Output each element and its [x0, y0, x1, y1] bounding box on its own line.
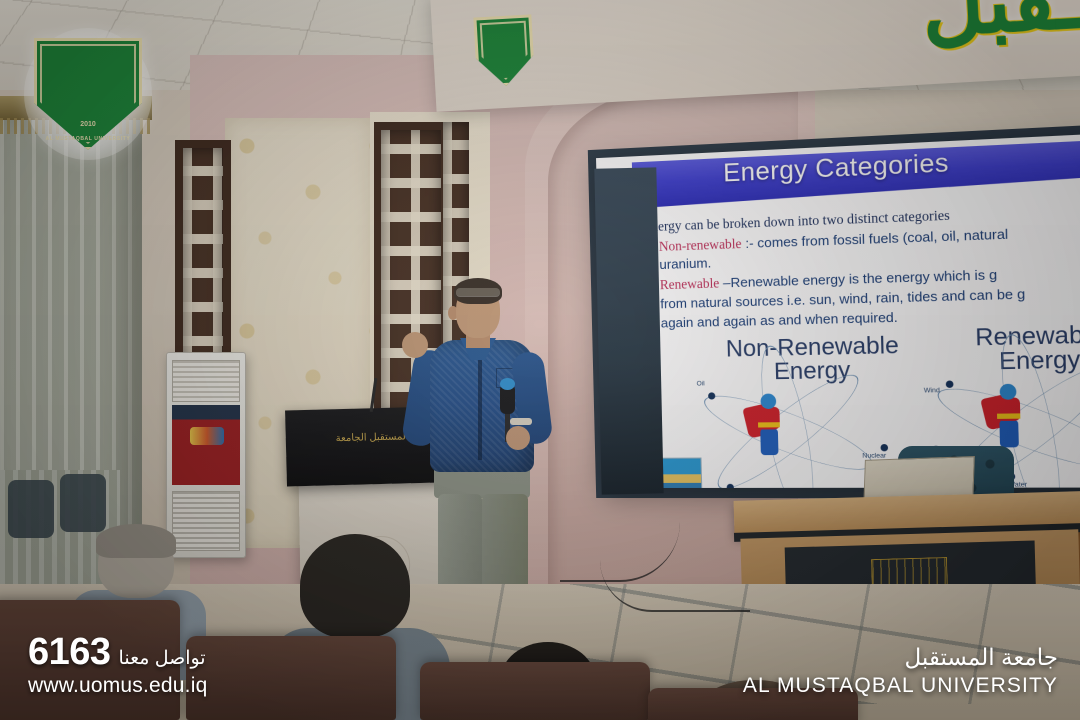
slide-bullet-list: Non-renewable :- comes from fossil fuels… [644, 221, 1080, 333]
contact-arabic-label: تواصل معنا [119, 647, 206, 670]
glasses-icon [456, 288, 500, 296]
presenter-right-hand [506, 426, 530, 450]
orbit-dot [708, 392, 715, 399]
ac-badge-icon [190, 427, 224, 445]
superhero-figure-left-icon [751, 393, 788, 457]
presenter-shirt-placket [478, 348, 482, 460]
ac-vent-top [172, 360, 240, 402]
atom-diagram-nonrenewable [698, 375, 880, 488]
source-label-wind: Wind [913, 387, 950, 395]
orbit-dot [880, 444, 888, 451]
seat [420, 662, 650, 720]
wristwatch-icon [510, 418, 532, 425]
contact-website[interactable]: www.uomus.edu.iq [28, 674, 207, 698]
photo-scene: ـقبل 2010 AL MUSTAQBAL UNIVERSITY Energy… [0, 0, 1080, 720]
wall-sign-arabic-text: ـقبل [919, 0, 1080, 56]
seal-year: 2010 [34, 121, 142, 128]
wall-sign-crest-icon [473, 14, 535, 87]
contact-overlay: 6163 تواصل معنا www.uomus.edu.iq [28, 633, 207, 698]
audience-person-hair [96, 524, 176, 558]
university-name-arabic: جامعة المستقبل [743, 644, 1058, 671]
projection-screen: Energy Categories Energy can be broken d… [596, 133, 1080, 488]
university-name-english: AL MUSTAQBAL UNIVERSITY [743, 674, 1058, 698]
bullet-term: Non-renewable [659, 236, 742, 254]
background-chair [8, 480, 54, 538]
contact-phone: 6163 [28, 633, 111, 671]
superhero-figure-right-icon [990, 384, 1029, 450]
ac-vent-bottom [172, 491, 240, 551]
presenter-left-hand [402, 332, 428, 358]
bullet-term: Renewable [660, 275, 720, 292]
air-conditioner [166, 352, 246, 558]
slide-body: Energy can be broken down into two disti… [643, 200, 1080, 335]
seat [186, 636, 396, 720]
screen-side-shadow [594, 167, 663, 494]
microphone-head [500, 378, 515, 390]
university-seal-icon: 2010 AL MUSTAQBAL UNIVERSITY [34, 38, 142, 150]
university-wordmark-overlay: جامعة المستقبل AL MUSTAQBAL UNIVERSITY [743, 644, 1058, 698]
ac-panel [172, 405, 240, 485]
audience-person-head [300, 534, 410, 638]
source-label-oil: Oil [685, 380, 716, 388]
seal-name-en: AL MUSTAQBAL UNIVERSITY [34, 136, 142, 142]
orbit-dot [727, 484, 734, 488]
background-chair [60, 474, 106, 532]
